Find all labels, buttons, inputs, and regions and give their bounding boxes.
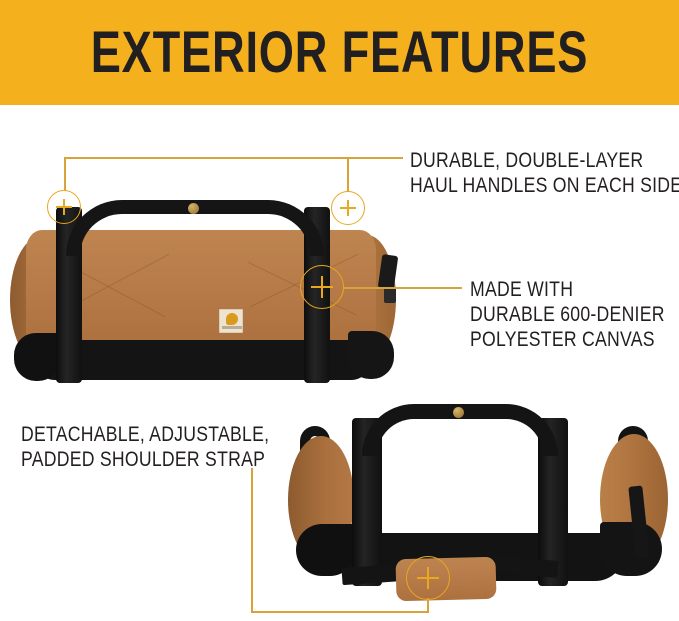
handle-rivet — [188, 203, 199, 214]
callout-line: PADDED SHOULDER STRAP — [21, 447, 269, 472]
bag-base-right-corner — [348, 331, 394, 379]
callout-shoulder-strap: DETACHABLE, ADJUSTABLE, PADDED SHOULDER … — [21, 422, 269, 472]
connector-line-strap-vertical — [251, 468, 253, 613]
callout-marker-canvas[interactable] — [300, 265, 344, 309]
carhartt-logo-patch — [219, 309, 243, 333]
connector-line-handles-to-text — [365, 157, 403, 159]
connector-line-strap-horizontal — [251, 611, 429, 613]
connector-line-strap-riser — [427, 598, 429, 612]
header-banner: EXTERIOR FEATURES — [0, 0, 679, 105]
callout-marker-handle-right[interactable] — [331, 191, 365, 225]
connector-line-canvas — [344, 287, 462, 289]
handle-rivet — [453, 407, 464, 418]
connector-line-handles-drop-left — [64, 157, 66, 191]
carhartt-wordmark — [222, 326, 242, 329]
callout-line: DETACHABLE, ADJUSTABLE, — [21, 422, 269, 447]
callout-marker-strap[interactable] — [406, 556, 450, 600]
callout-line: HAUL HANDLES ON EACH SIDE — [410, 173, 679, 198]
shoulder-strap-d-ring — [384, 287, 396, 303]
carhartt-c-icon — [226, 313, 238, 325]
infographic-page: EXTERIOR FEATURES — [0, 0, 679, 621]
bag-base-left-corner — [14, 333, 60, 381]
callout-marker-handle-left[interactable] — [47, 190, 81, 224]
page-title: EXTERIOR FEATURES — [75, 0, 605, 105]
connector-line-handles-drop-right — [347, 157, 349, 192]
duffel-bag-bottom-image — [280, 398, 679, 603]
callout-line: DURABLE, DOUBLE-LAYER — [410, 148, 679, 173]
bag-base-right-corner — [600, 522, 662, 576]
callout-polyester-canvas: MADE WITH DURABLE 600-DENIER POLYESTER C… — [470, 277, 665, 352]
callout-line: DURABLE 600-DENIER — [470, 302, 665, 327]
callout-haul-handles: DURABLE, DOUBLE-LAYER HAUL HANDLES ON EA… — [410, 148, 679, 198]
callout-line: POLYESTER CANVAS — [470, 327, 665, 352]
callout-line: MADE WITH — [470, 277, 665, 302]
